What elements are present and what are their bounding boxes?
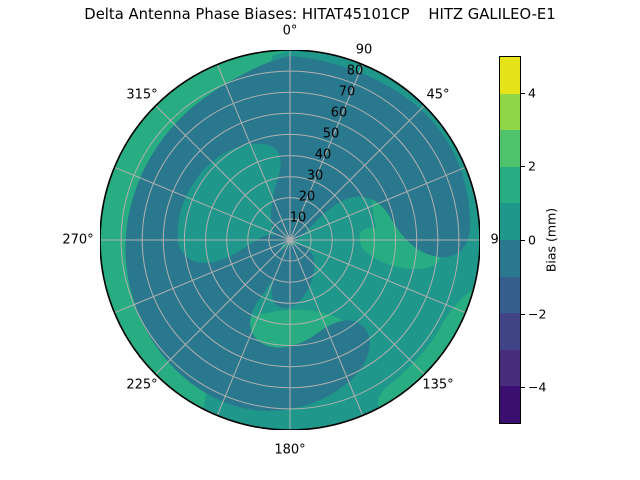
colorbar-band-9 [500, 386, 520, 423]
colorbar-band-5 [500, 240, 520, 277]
colorbar: 4 2 0 −2 −4 [499, 56, 521, 424]
colorbar-band-7 [500, 313, 520, 350]
colorbar-band-3 [500, 167, 520, 204]
r-tick-30: 30 [307, 169, 324, 184]
polar-axes: 0° 45° 90° 135° 180° 225° 270° 315° 10 2… [100, 50, 480, 430]
colorbar-tick-label-neg4: −4 [528, 380, 546, 395]
colorbar-gradient-strip [499, 56, 521, 424]
colorbar-band-2 [500, 130, 520, 167]
colorbar-band-0 [500, 57, 520, 94]
colorbar-tick-label-neg2: −2 [528, 306, 546, 321]
r-tick-20: 20 [299, 190, 316, 205]
theta-tick-135: 135° [422, 378, 453, 393]
theta-tick-270: 270° [62, 233, 93, 248]
colorbar-band-4 [500, 203, 520, 240]
colorbar-axis-label: Bias (mm) [544, 208, 559, 272]
colorbar-band-1 [500, 94, 520, 131]
polar-plot-svg [100, 50, 480, 430]
r-tick-90: 90 [356, 43, 373, 58]
polar-grid-spokes [100, 50, 480, 430]
colorbar-tick-label-0: 0 [528, 233, 536, 248]
theta-tick-225: 225° [126, 378, 157, 393]
colorbar-tick-label-4: 4 [528, 85, 536, 100]
r-tick-80: 80 [347, 64, 364, 79]
page-title: Delta Antenna Phase Biases: HITAT45101CP… [0, 6, 640, 23]
colorbar-tick-mark-2 [521, 166, 525, 167]
r-tick-50: 50 [323, 127, 340, 142]
figure-canvas: Delta Antenna Phase Biases: HITAT45101CP… [0, 0, 640, 480]
colorbar-tick-label-2: 2 [528, 159, 536, 174]
theta-tick-0: 0° [283, 24, 298, 39]
r-tick-40: 40 [315, 148, 332, 163]
theta-tick-180: 180° [274, 443, 305, 458]
r-tick-10: 10 [290, 211, 307, 226]
r-tick-70: 70 [339, 85, 356, 100]
colorbar-band-6 [500, 277, 520, 314]
colorbar-tick-mark-4 [521, 93, 525, 94]
r-tick-60: 60 [331, 106, 348, 121]
colorbar-tick-mark-neg2 [521, 314, 525, 315]
theta-tick-315: 315° [126, 88, 157, 103]
colorbar-tick-mark-0 [521, 240, 525, 241]
colorbar-band-8 [500, 350, 520, 387]
colorbar-tick-mark-neg4 [521, 387, 525, 388]
theta-tick-45: 45° [426, 88, 449, 103]
